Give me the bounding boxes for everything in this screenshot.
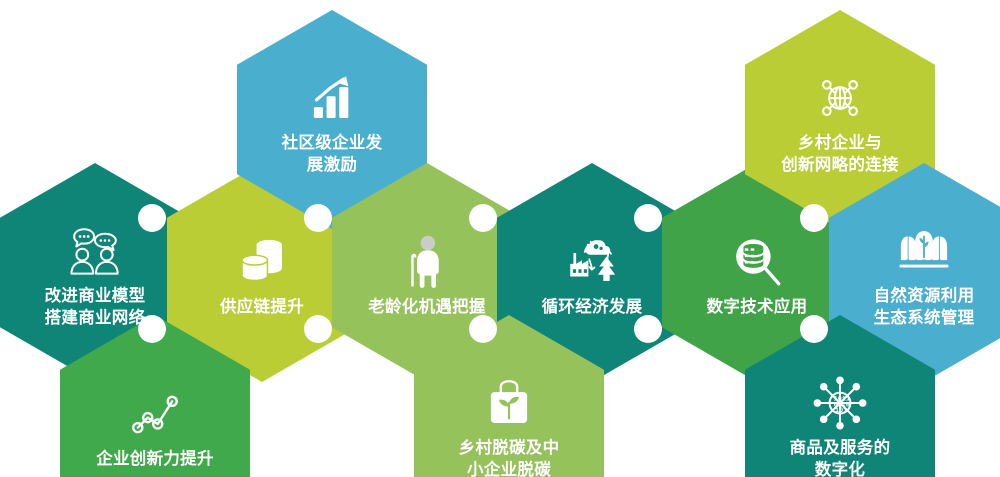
hexagon-label: 社区级企业发 展激励: [276, 133, 389, 177]
hexagon-label: 自然资源利用 生态系统管理: [868, 286, 981, 330]
connector-dot: [304, 315, 332, 343]
elderly-person-icon: [398, 233, 456, 291]
node-graph-line-icon: [126, 385, 184, 443]
hexagon-label: 乡村脱碳及中 小企业脱碳: [453, 438, 566, 477]
barrels-stack-icon: [233, 233, 291, 291]
connector-dot: [304, 204, 332, 232]
briefcase-plant-icon: [480, 374, 538, 432]
connector-dot: [469, 204, 497, 232]
hexagon-label: 企业创新力提升: [90, 449, 220, 471]
hexagon-label: 乡村企业与 创新网略的连接: [775, 133, 905, 177]
connector-dot: [138, 204, 166, 232]
trees-ecosystem-icon: [895, 222, 953, 280]
connector-dot: [469, 315, 497, 343]
database-magnifier-icon: [728, 233, 786, 291]
connector-dot: [800, 204, 828, 232]
digital-hub-network-icon: 1011 0110 101: [811, 374, 869, 432]
hexagon-label: 商品及服务的 数字化: [784, 438, 897, 477]
hexagon-infographic: 改进商业模型 搭建商业网络 供应链提升: [0, 0, 1000, 477]
connector-dot: [800, 315, 828, 343]
hexagon-label: 数字技术应用: [701, 297, 814, 319]
hexagon-label: 老龄化机遇把握: [362, 297, 492, 319]
globe-network-icon: [811, 69, 869, 127]
connector-dot: [634, 315, 662, 343]
hexagon-label: 循环经济发展: [536, 297, 649, 319]
hexagon-label: 改进商业模型 搭建商业网络: [39, 286, 152, 330]
factory-cloud-tree-icon: [563, 233, 621, 291]
two-people-chat-icon: [66, 222, 124, 280]
hexagon-label: 供应链提升: [214, 297, 310, 319]
connector-dot: [138, 315, 166, 343]
connector-dot: [634, 204, 662, 232]
svg-text:101: 101: [835, 407, 847, 415]
bar-chart-growth-icon: [303, 69, 361, 127]
